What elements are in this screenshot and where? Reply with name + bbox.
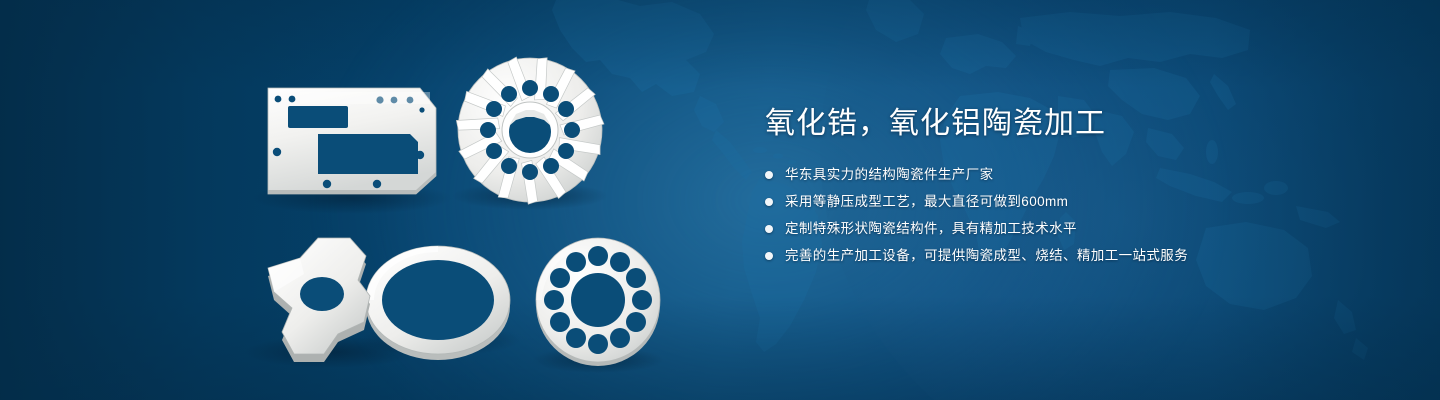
list-item: 定制特殊形状陶瓷结构件，具有精加工技术水平 — [765, 220, 1405, 238]
feature-list: 华东具实力的结构陶瓷件生产厂家 采用等静压成型工艺，最大直径可做到600mm 定… — [765, 166, 1405, 265]
banner-copy-block: 氧化锆，氧化铝陶瓷加工 华东具实力的结构陶瓷件生产厂家 采用等静压成型工艺，最大… — [765, 104, 1405, 274]
list-item: 采用等静压成型工艺，最大直径可做到600mm — [765, 193, 1405, 211]
bullet-dot-icon — [765, 225, 773, 233]
ceramic-impeller — [454, 55, 604, 205]
list-item: 完善的生产加工设备，可提供陶瓷成型、烧结、精加工一站式服务 — [765, 247, 1405, 265]
bullet-dot-icon — [765, 252, 773, 260]
feature-text: 定制特殊形状陶瓷结构件，具有精加工技术水平 — [785, 220, 1077, 238]
list-item: 华东具实力的结构陶瓷件生产厂家 — [765, 166, 1405, 184]
feature-text: 采用等静压成型工艺，最大直径可做到600mm — [785, 193, 1068, 211]
ceramic-products-photo-group — [0, 0, 740, 400]
product-hero-banner: 氧化锆，氧化铝陶瓷加工 华东具实力的结构陶瓷件生产厂家 采用等静压成型工艺，最大… — [0, 0, 1440, 400]
bullet-dot-icon — [765, 198, 773, 206]
ceramic-perforated-disc — [536, 238, 660, 366]
ceramic-ring — [366, 246, 510, 360]
page-title: 氧化锆，氧化铝陶瓷加工 — [765, 104, 1405, 144]
feature-text: 华东具实力的结构陶瓷件生产厂家 — [785, 166, 994, 184]
bullet-dot-icon — [765, 171, 773, 179]
feature-text: 完善的生产加工设备，可提供陶瓷成型、烧结、精加工一站式服务 — [785, 247, 1188, 265]
ceramic-mounting-plate — [268, 88, 436, 194]
